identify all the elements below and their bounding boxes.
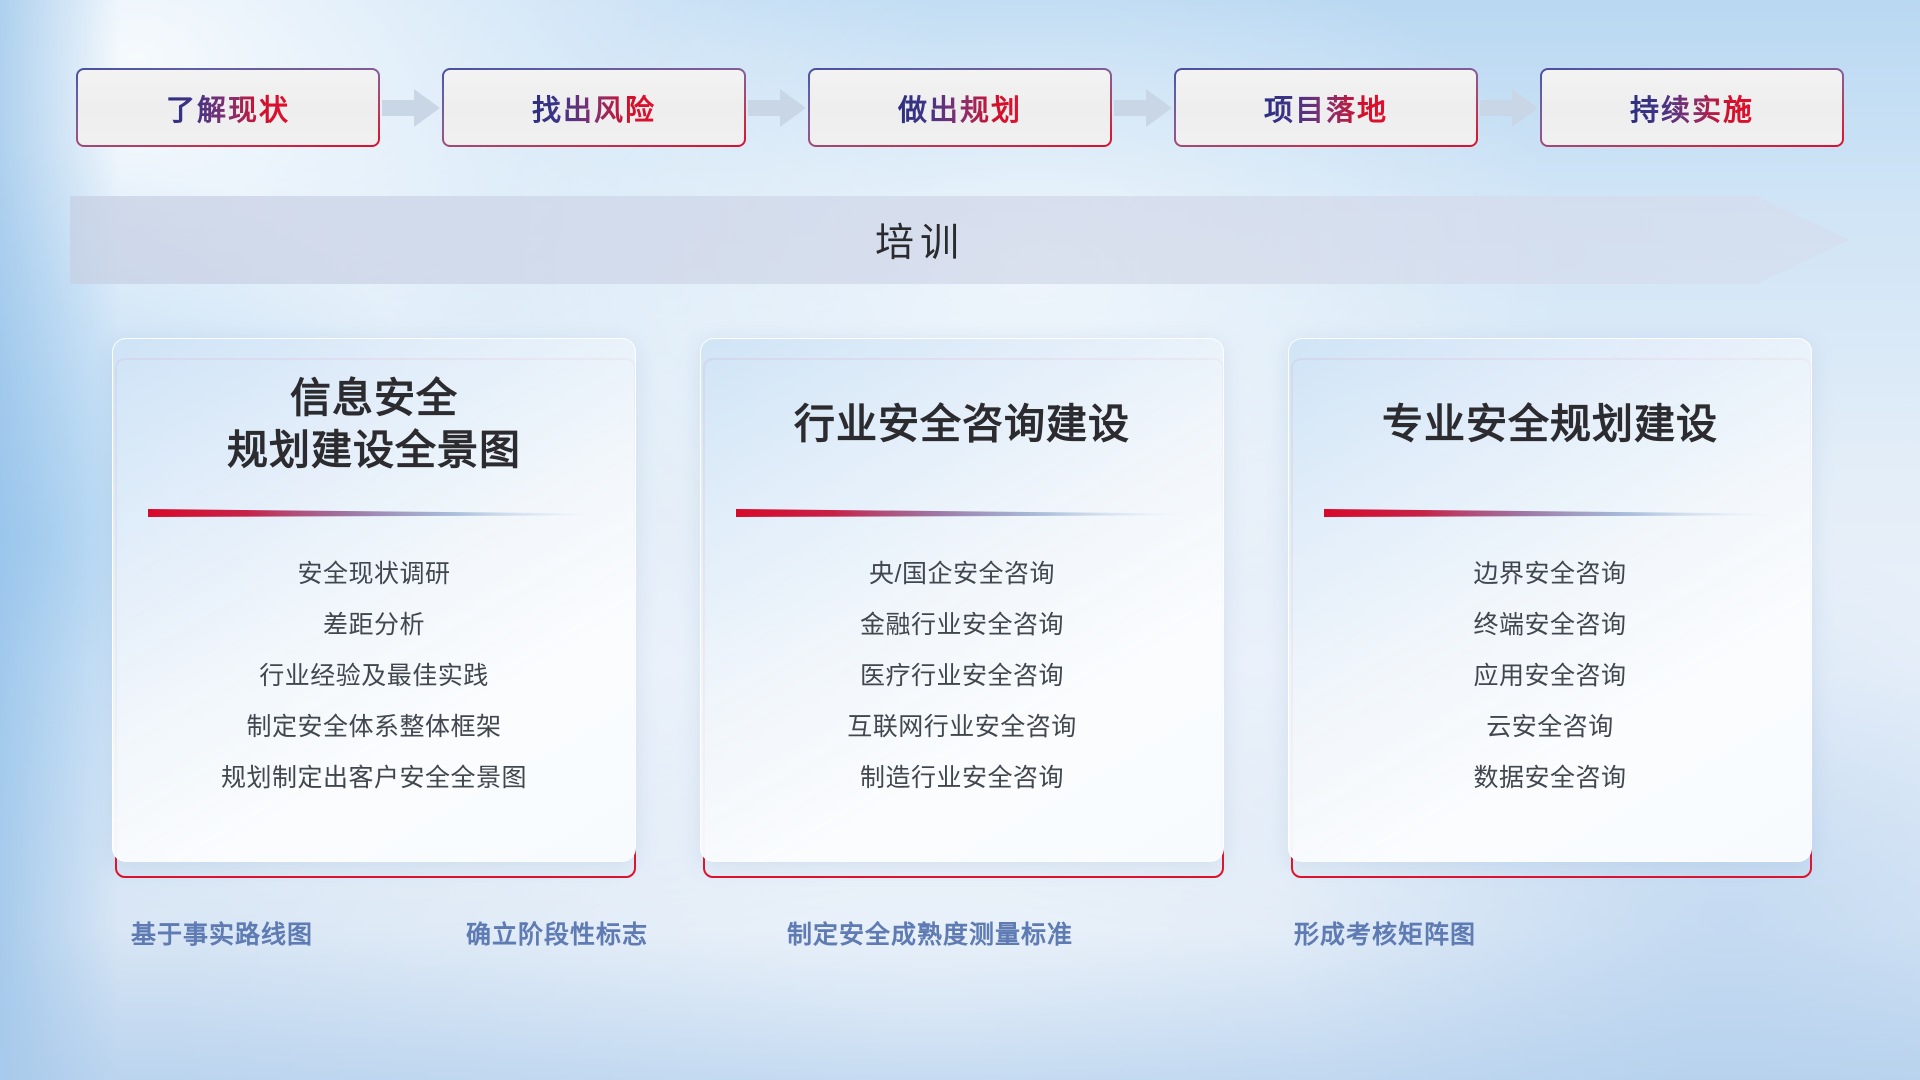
card-list-item[interactable]: 终端安全咨询 (1473, 600, 1626, 651)
card-item-list: 安全现状调研 差距分析 行业经验及最佳实践 制定安全体系整体框架 规划制定出客户… (113, 549, 635, 804)
pipeline-step-label: 找出风险 (532, 87, 656, 129)
card-industry-consulting[interactable]: 行业安全咨询建设 央/国企安全咨询 (700, 338, 1224, 862)
card-wrapper: 信息安全 规划建设全景图 安全现状调 (112, 338, 636, 878)
footer-label-1: 基于事实路线图 (131, 915, 313, 951)
footer-label-2: 确立阶段性标志 (466, 915, 648, 951)
pipeline-step-5[interactable]: 持续实施 (1540, 68, 1844, 147)
card-professional-planning[interactable]: 专业安全规划建设 边界安全咨询 (1288, 338, 1812, 862)
pipeline-step-4[interactable]: 项目落地 (1174, 68, 1478, 147)
pipeline-step-inner: 找出风险 (444, 70, 744, 145)
pipeline-step-3[interactable]: 做出规划 (808, 68, 1112, 147)
footer-label-3: 制定安全成熟度测量标准 (787, 915, 1073, 951)
card-divider (736, 507, 1188, 521)
card-title: 行业安全咨询建设 (794, 398, 1130, 450)
card-list-item[interactable]: 应用安全咨询 (1473, 651, 1626, 702)
card-title: 信息安全 规划建设全景图 (227, 372, 521, 477)
pipeline-step-label: 了解现状 (166, 87, 290, 129)
card-title-block: 信息安全 规划建设全景图 (113, 339, 635, 509)
card-divider (148, 507, 600, 521)
pipeline-step-label: 做出规划 (898, 87, 1022, 129)
arrow-right-icon (1478, 86, 1540, 130)
card-wrapper: 专业安全规划建设 边界安全咨询 (1288, 338, 1812, 878)
pipeline-step-inner: 项目落地 (1176, 70, 1476, 145)
card-item-list: 央/国企安全咨询 金融行业安全咨询 医疗行业安全咨询 互联网行业安全咨询 制造行… (701, 549, 1223, 804)
card-list-item[interactable]: 行业经验及最佳实践 (259, 651, 489, 702)
card-list-item[interactable]: 安全现状调研 (297, 549, 450, 600)
arrow-right-icon (746, 86, 808, 130)
pipeline-step-1[interactable]: 了解现状 (76, 68, 380, 147)
card-list-item[interactable]: 央/国企安全咨询 (869, 549, 1055, 600)
pipeline-step-label: 项目落地 (1264, 87, 1388, 129)
card-list-item[interactable]: 医疗行业安全咨询 (860, 651, 1064, 702)
card-list-item[interactable]: 互联网行业安全咨询 (847, 702, 1077, 753)
card-wrapper: 行业安全咨询建设 央/国企安全咨询 (700, 338, 1224, 878)
card-title-block: 行业安全咨询建设 (701, 339, 1223, 509)
card-list-item[interactable]: 制造行业安全咨询 (860, 753, 1064, 804)
card-list-item[interactable]: 边界安全咨询 (1473, 549, 1626, 600)
pipeline-step-inner: 做出规划 (810, 70, 1110, 145)
card-list-item[interactable]: 规划制定出客户安全全景图 (221, 753, 527, 804)
footer-labels: 基于事实路线图 确立阶段性标志 制定安全成熟度测量标准 形成考核矩阵图 (0, 915, 1920, 963)
card-list-item[interactable]: 制定安全体系整体框架 (246, 702, 501, 753)
card-title-block: 专业安全规划建设 (1289, 339, 1811, 509)
banner-title-text: 培训 (875, 212, 965, 268)
pipeline-step-2[interactable]: 找出风险 (442, 68, 746, 147)
card-list-item[interactable]: 数据安全咨询 (1473, 753, 1626, 804)
pipeline-step-inner: 了解现状 (78, 70, 378, 145)
arrow-right-icon (380, 86, 442, 130)
banner-title: 培训 (70, 190, 1850, 290)
card-panorama[interactable]: 信息安全 规划建设全景图 安全现状调 (112, 338, 636, 862)
footer-label-4: 形成考核矩阵图 (1294, 915, 1476, 951)
pipeline-step-label: 持续实施 (1630, 87, 1754, 129)
card-list-item[interactable]: 差距分析 (323, 600, 425, 651)
card-title: 专业安全规划建设 (1382, 398, 1718, 450)
training-banner: 培训 (70, 190, 1850, 290)
card-list-item[interactable]: 云安全咨询 (1486, 702, 1614, 753)
card-item-list: 边界安全咨询 终端安全咨询 应用安全咨询 云安全咨询 数据安全咨询 (1289, 549, 1811, 804)
process-pipeline: 了解现状 找出风险 做出规划 项目落地 (0, 68, 1920, 147)
pipeline-step-inner: 持续实施 (1542, 70, 1842, 145)
card-divider (1324, 507, 1776, 521)
arrow-right-icon (1112, 86, 1174, 130)
card-list-item[interactable]: 金融行业安全咨询 (860, 600, 1064, 651)
card-group: 信息安全 规划建设全景图 安全现状调 (112, 338, 1812, 878)
